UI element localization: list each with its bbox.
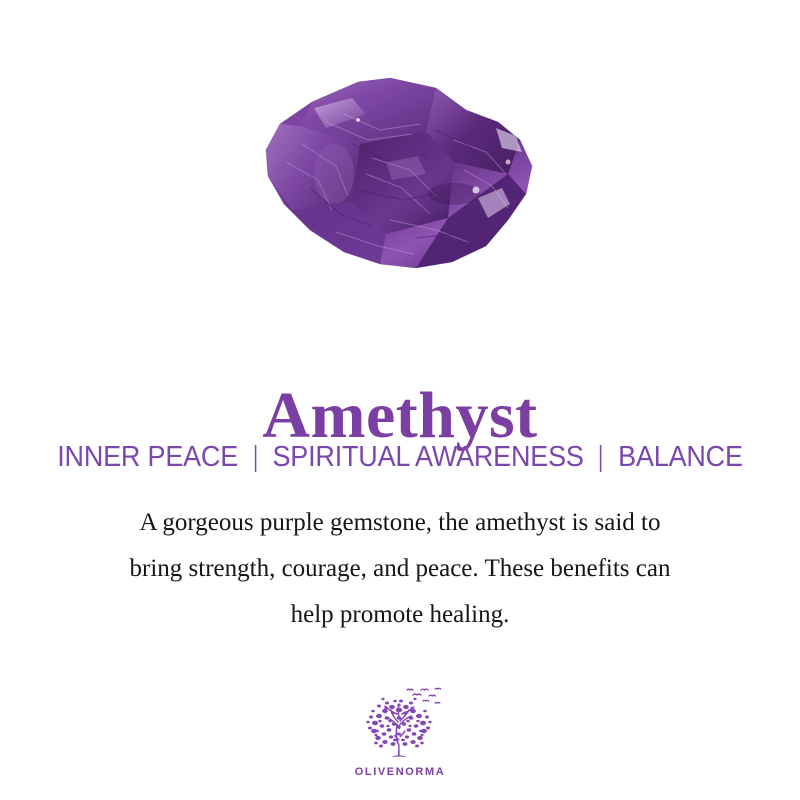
attribute-separator: | <box>594 440 608 474</box>
attribute-spiritual-awareness: SPIRITUAL AWARENESS <box>272 441 583 473</box>
brand-logo: OLIVENORMA <box>0 684 800 778</box>
amethyst-info-card: Amethyst INNER PEACE | SPIRITUAL AWARENE… <box>0 0 800 800</box>
raw-amethyst-stone-image <box>240 70 560 300</box>
attribute-inner-peace: INNER PEACE <box>57 441 238 473</box>
tree-of-life-with-birds-icon <box>357 684 443 764</box>
attribute-separator: | <box>248 440 262 474</box>
attribute-balance: BALANCE <box>618 441 743 473</box>
description-line: A gorgeous purple gemstone, the amethyst… <box>60 500 740 546</box>
description-line: help promote healing. <box>60 592 740 638</box>
description-text: A gorgeous purple gemstone, the amethyst… <box>60 500 740 638</box>
description-line: bring strength, courage, and peace. Thes… <box>60 546 740 592</box>
gemstone-image-container <box>0 70 800 300</box>
brand-name: OLIVENORMA <box>0 766 800 778</box>
attribute-list: INNER PEACE | SPIRITUAL AWARENESS | BALA… <box>28 440 772 474</box>
stone-body <box>240 70 560 300</box>
